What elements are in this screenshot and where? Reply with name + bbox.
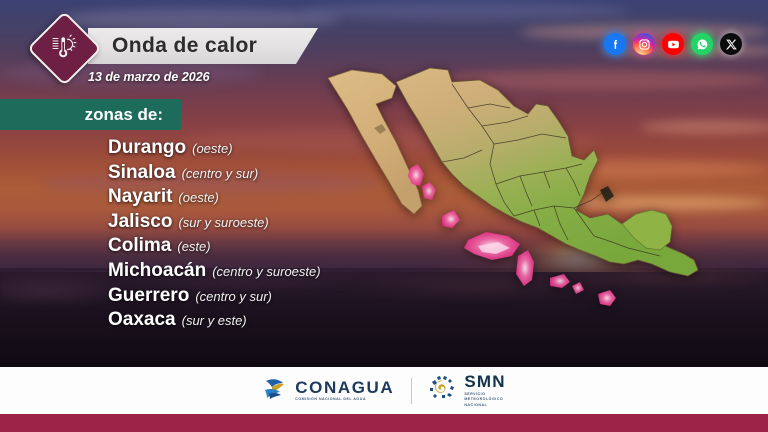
state-item: Colima (este): [108, 235, 528, 260]
whatsapp-icon[interactable]: [691, 33, 713, 55]
footer-divider: [411, 378, 412, 404]
state-name: Sinaloa: [108, 162, 176, 184]
title-banner: Onda de calor: [88, 28, 318, 64]
facebook-icon[interactable]: [604, 33, 626, 55]
state-name: Jalisco: [108, 211, 172, 233]
smn-subtitle-line: METEOROLÓGICO: [464, 397, 503, 401]
state-zone: (centro y sur): [195, 289, 272, 304]
infographic-root: Onda de calor 13 de marzo de 2026: [0, 0, 768, 432]
affected-states-list: Durango (oeste) Sinaloa (centro y sur) N…: [108, 137, 528, 334]
footer-accent-bar: [0, 414, 768, 432]
social-links: [604, 33, 742, 55]
smn-name: SMN: [464, 373, 505, 390]
zones-label: zonas de:: [85, 105, 181, 125]
smn-emblem-icon: [429, 375, 457, 406]
conagua-logo: CONAGUA COMISIÓN NACIONAL DEL AGUA: [262, 375, 394, 406]
state-name: Michoacán: [108, 260, 206, 282]
state-name: Guerrero: [108, 285, 189, 307]
zones-label-bar: zonas de:: [0, 99, 181, 130]
state-item: Michoacán (centro y suroeste): [108, 260, 528, 285]
state-item: Durango (oeste): [108, 137, 528, 162]
state-item: Oaxaca (sur y este): [108, 309, 528, 334]
state-name: Colima: [108, 235, 171, 257]
page-title: Onda de calor: [112, 34, 257, 58]
conagua-subtitle: COMISIÓN NACIONAL DEL AGUA: [295, 398, 394, 402]
cloud-streak: [300, 2, 630, 20]
state-zone: (sur y este): [182, 313, 247, 328]
conagua-emblem-icon: [262, 375, 288, 406]
publication-date: 13 de marzo de 2026: [88, 70, 210, 84]
state-name: Nayarit: [108, 186, 172, 208]
thermometer-sun-icon: [38, 22, 87, 71]
state-item: Jalisco (sur y suroeste): [108, 211, 528, 236]
conagua-name: CONAGUA: [295, 379, 394, 396]
instagram-icon[interactable]: [633, 33, 655, 55]
state-item: Sinaloa (centro y sur): [108, 162, 528, 187]
state-name: Oaxaca: [108, 309, 176, 331]
cloud-streak: [60, 8, 340, 30]
x-twitter-icon[interactable]: [720, 33, 742, 55]
youtube-icon[interactable]: [662, 33, 684, 55]
state-name: Durango: [108, 137, 186, 159]
state-zone: (este): [177, 239, 210, 254]
footer-logos: CONAGUA COMISIÓN NACIONAL DEL AGUA: [0, 367, 768, 414]
state-item: Guerrero (centro y sur): [108, 285, 528, 310]
state-zone: (oeste): [192, 141, 232, 156]
state-zone: (oeste): [178, 190, 218, 205]
state-item: Nayarit (oeste): [108, 186, 528, 211]
smn-logo: SMN SERVICIO METEOROLÓGICO NACIONAL: [429, 373, 505, 408]
smn-subtitle-line: NACIONAL: [464, 403, 487, 407]
state-zone: (centro y sur): [182, 166, 259, 181]
smn-subtitle-line: SERVICIO: [464, 392, 485, 396]
smn-subtitle: SERVICIO METEOROLÓGICO NACIONAL: [464, 392, 505, 408]
state-zone: (centro y suroeste): [212, 264, 320, 279]
state-zone: (sur y suroeste): [178, 215, 268, 230]
